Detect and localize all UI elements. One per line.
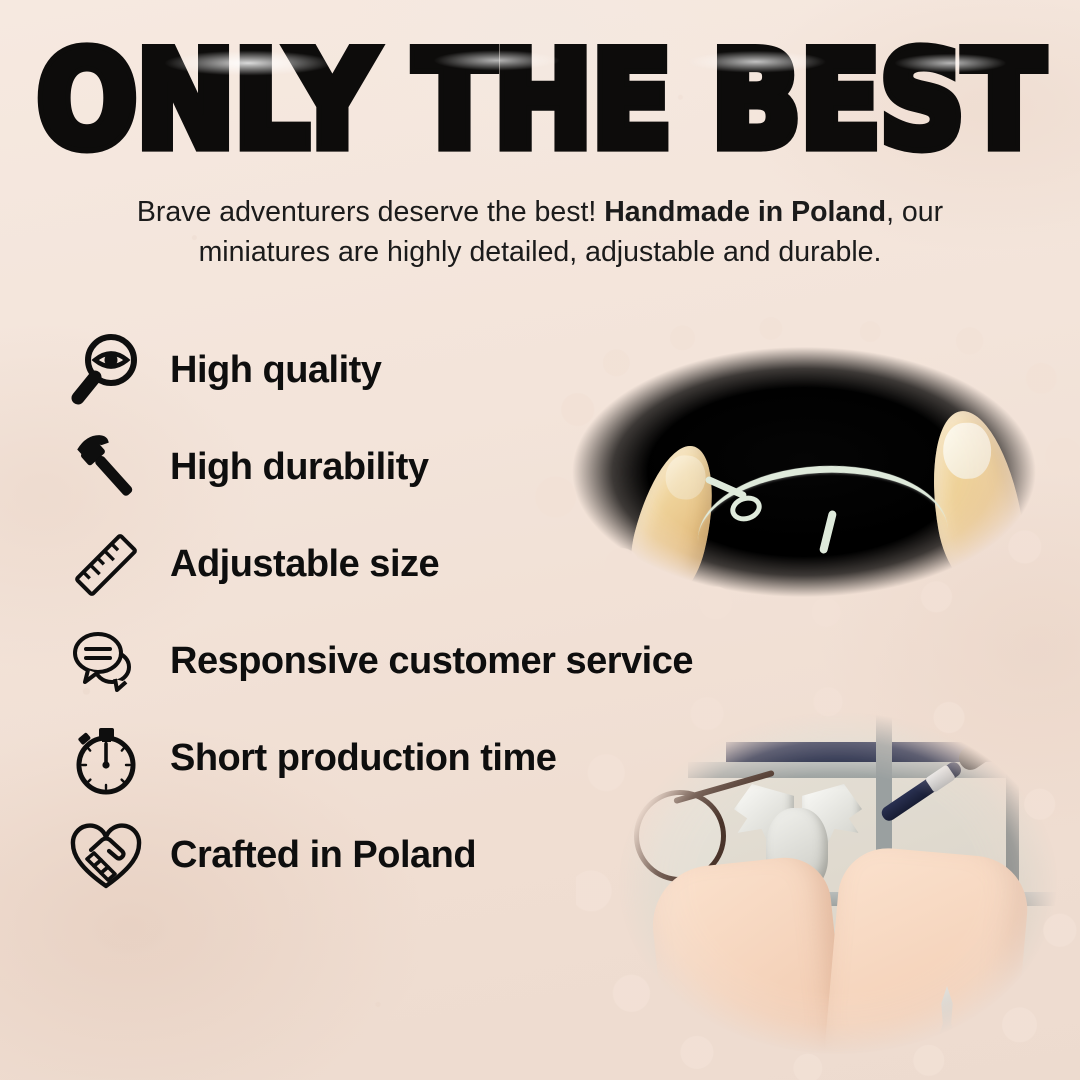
feature-label: High quality [170, 349, 381, 392]
hand-right [822, 844, 1031, 1080]
hammer-icon [60, 429, 152, 507]
heart-handshake-icon [60, 817, 152, 895]
feature-label: Short production time [170, 737, 556, 780]
workshop-painting-photo [576, 686, 1080, 1080]
photo-bottom-scene [576, 686, 1080, 1080]
feature-label: Responsive customer service [170, 640, 693, 683]
hand-left [647, 853, 849, 1080]
stopwatch-icon [60, 720, 152, 798]
magnifier-eye-icon [60, 332, 152, 410]
feature-label: Crafted in Poland [170, 834, 476, 877]
subtitle-lead: Brave adventurers deserve the best! [137, 196, 596, 228]
ruler-icon [60, 526, 152, 604]
flexible-miniature-part [696, 466, 946, 546]
feature-label: High durability [170, 446, 429, 489]
speech-bubbles-icon [60, 623, 152, 701]
subtitle: Brave adventurers deserve the best! Hand… [90, 192, 990, 273]
feature-label: Adjustable size [170, 543, 439, 586]
headline-text: ONLY THE BEST [37, 23, 1043, 178]
hobby-tool [877, 736, 995, 826]
flexible-miniature-photo [528, 316, 1080, 628]
photo-top-scene [528, 316, 1080, 628]
subtitle-emphasis: Handmade in Poland [604, 196, 886, 228]
promo-canvas: ONLY THE BEST Brave adventurers deserve … [0, 0, 1080, 1080]
page-title: ONLY THE BEST [0, 34, 1080, 166]
